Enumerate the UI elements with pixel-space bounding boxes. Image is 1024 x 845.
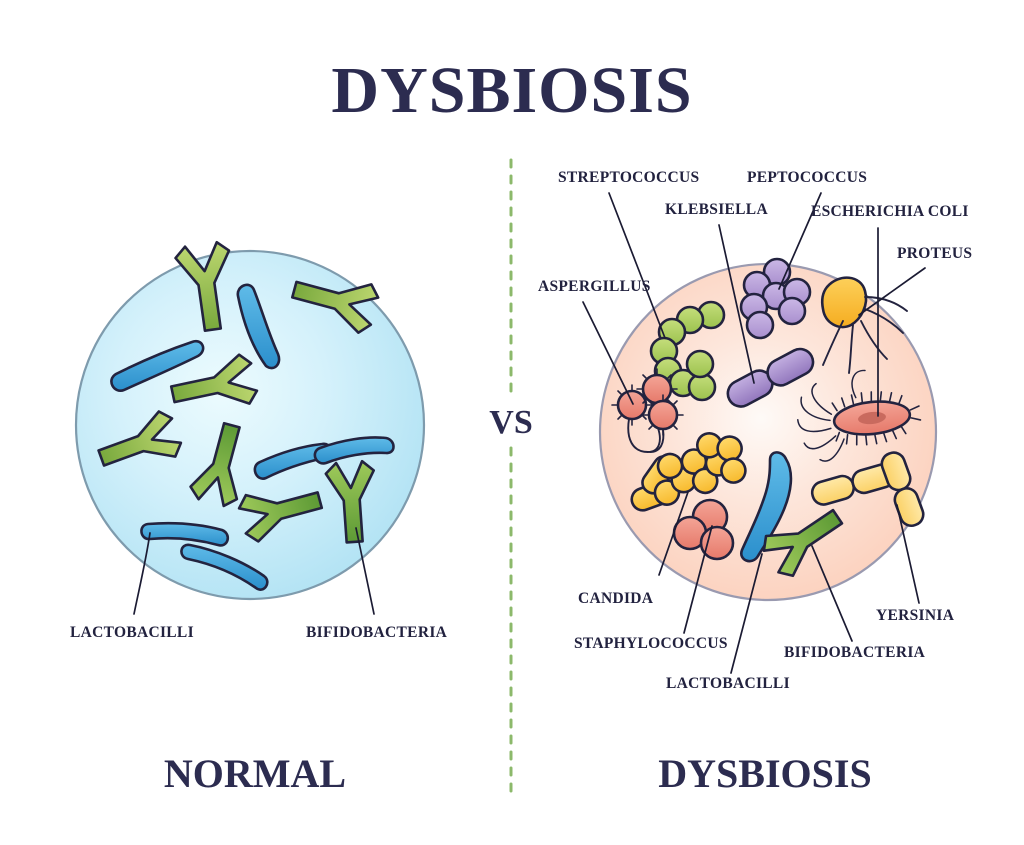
- caption-dysbiosis: DYSBIOSIS: [658, 751, 871, 796]
- label-streptococcus: STREPTOCOCCUS: [558, 169, 699, 186]
- label-lactobacilli-dysbiosis: LACTOBACILLI: [666, 675, 790, 692]
- dysbiosis-infographic: DYSBIOSIS VS: [0, 0, 1024, 845]
- label-peptococcus: PEPTOCOCCUS: [747, 169, 867, 186]
- caption-normal: NORMAL: [164, 751, 346, 796]
- label-staphylococcus: STAPHYLOCOCCUS: [574, 635, 728, 652]
- label-bifidobacteria-dysbiosis: BIFIDOBACTERIA: [784, 644, 926, 661]
- label-escherichia-coli: ESCHERICHIA COLI: [811, 203, 969, 220]
- normal-panel: LACTOBACILLI BIFIDOBACTERIA NORMAL: [70, 241, 448, 796]
- label-lactobacilli-normal: LACTOBACILLI: [70, 624, 194, 641]
- label-proteus: PROTEUS: [897, 245, 972, 262]
- label-aspergillus: ASPERGILLUS: [538, 278, 651, 295]
- leader-proteus: [859, 268, 925, 315]
- label-candida: CANDIDA: [578, 590, 654, 607]
- page-title: DYSBIOSIS: [331, 54, 692, 127]
- vs-label: VS: [489, 404, 532, 441]
- label-bifidobacteria-normal: BIFIDOBACTERIA: [306, 624, 448, 641]
- label-klebsiella: KLEBSIELLA: [665, 201, 768, 218]
- dysbiosis-panel: STREPTOCOCCUS PEPTOCOCCUS KLEBSIELLA ESC…: [538, 169, 972, 796]
- leader-streptococcus: [609, 193, 665, 338]
- label-yersinia: YERSINIA: [876, 607, 955, 624]
